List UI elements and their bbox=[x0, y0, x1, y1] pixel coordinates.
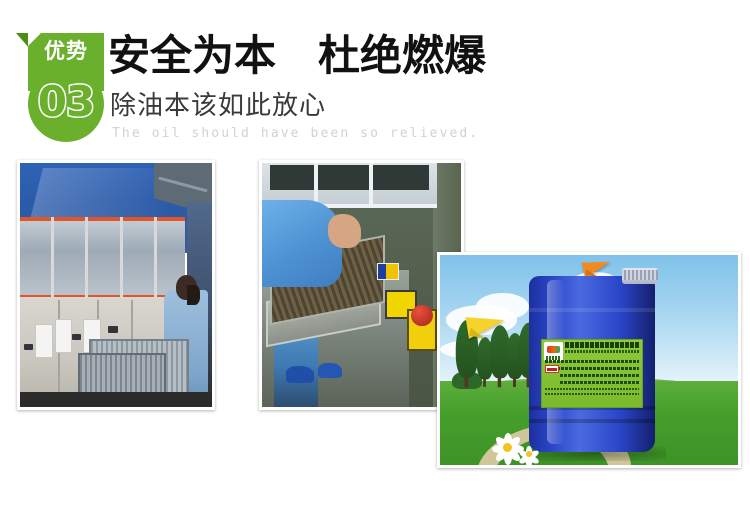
gallery-photo-3 bbox=[437, 252, 741, 468]
badge-label: 优势 bbox=[28, 38, 104, 64]
gallery-photo-1 bbox=[17, 160, 215, 410]
page-subtitle-english: The oil should have been so relieved. bbox=[112, 126, 479, 141]
glass-mullion bbox=[120, 217, 123, 300]
page-title: 安全为本 杜绝燃爆 bbox=[108, 31, 486, 81]
cabinet-handle bbox=[108, 326, 118, 332]
label-product-name bbox=[545, 360, 638, 363]
banner-page: 优势 03 安全为本 杜绝燃爆 除油本该如此放心 The oil should … bbox=[0, 0, 750, 515]
label-company-name bbox=[565, 342, 639, 348]
photo-1-content bbox=[20, 163, 212, 407]
label-net-weight bbox=[560, 374, 638, 377]
label-contact bbox=[545, 393, 638, 395]
worker-shoe bbox=[318, 363, 342, 378]
label-warning-badge bbox=[545, 365, 559, 373]
advantage-badge: 优势 03 bbox=[16, 26, 104, 134]
cabinet-label-card bbox=[35, 324, 52, 358]
machine-glass-enclosure bbox=[20, 217, 185, 300]
gallery-photo-2 bbox=[259, 160, 464, 410]
glass-mullion bbox=[51, 217, 54, 300]
window-mullion bbox=[369, 163, 373, 204]
label-company-name-english bbox=[565, 350, 639, 353]
product-label bbox=[541, 339, 642, 408]
factory-floor bbox=[20, 392, 212, 407]
cabinet-label-card bbox=[55, 319, 72, 353]
worker-hair bbox=[187, 285, 200, 305]
label-shelf-life bbox=[560, 381, 638, 384]
worker-hand bbox=[328, 214, 362, 248]
page-subtitle: 除油本该如此放心 bbox=[110, 90, 326, 122]
drum-cap-ridges bbox=[622, 270, 658, 281]
badge-number: 03 bbox=[28, 79, 104, 125]
window-glass bbox=[270, 165, 429, 189]
worker-blue-sleeve bbox=[262, 200, 342, 288]
glass-mullion bbox=[154, 217, 157, 300]
daisy-flower-small-icon bbox=[520, 445, 540, 463]
cabinet-handle bbox=[72, 334, 82, 340]
worker-shoe bbox=[286, 366, 314, 383]
glass-mullion bbox=[85, 217, 88, 300]
company-logo-icon bbox=[544, 342, 563, 361]
cabinet-handle bbox=[24, 344, 34, 350]
label-address bbox=[545, 388, 638, 390]
photo-2-content bbox=[262, 163, 461, 407]
photo-3-content bbox=[440, 255, 738, 465]
window-mullion bbox=[314, 163, 318, 204]
machine-sticker bbox=[377, 263, 399, 280]
